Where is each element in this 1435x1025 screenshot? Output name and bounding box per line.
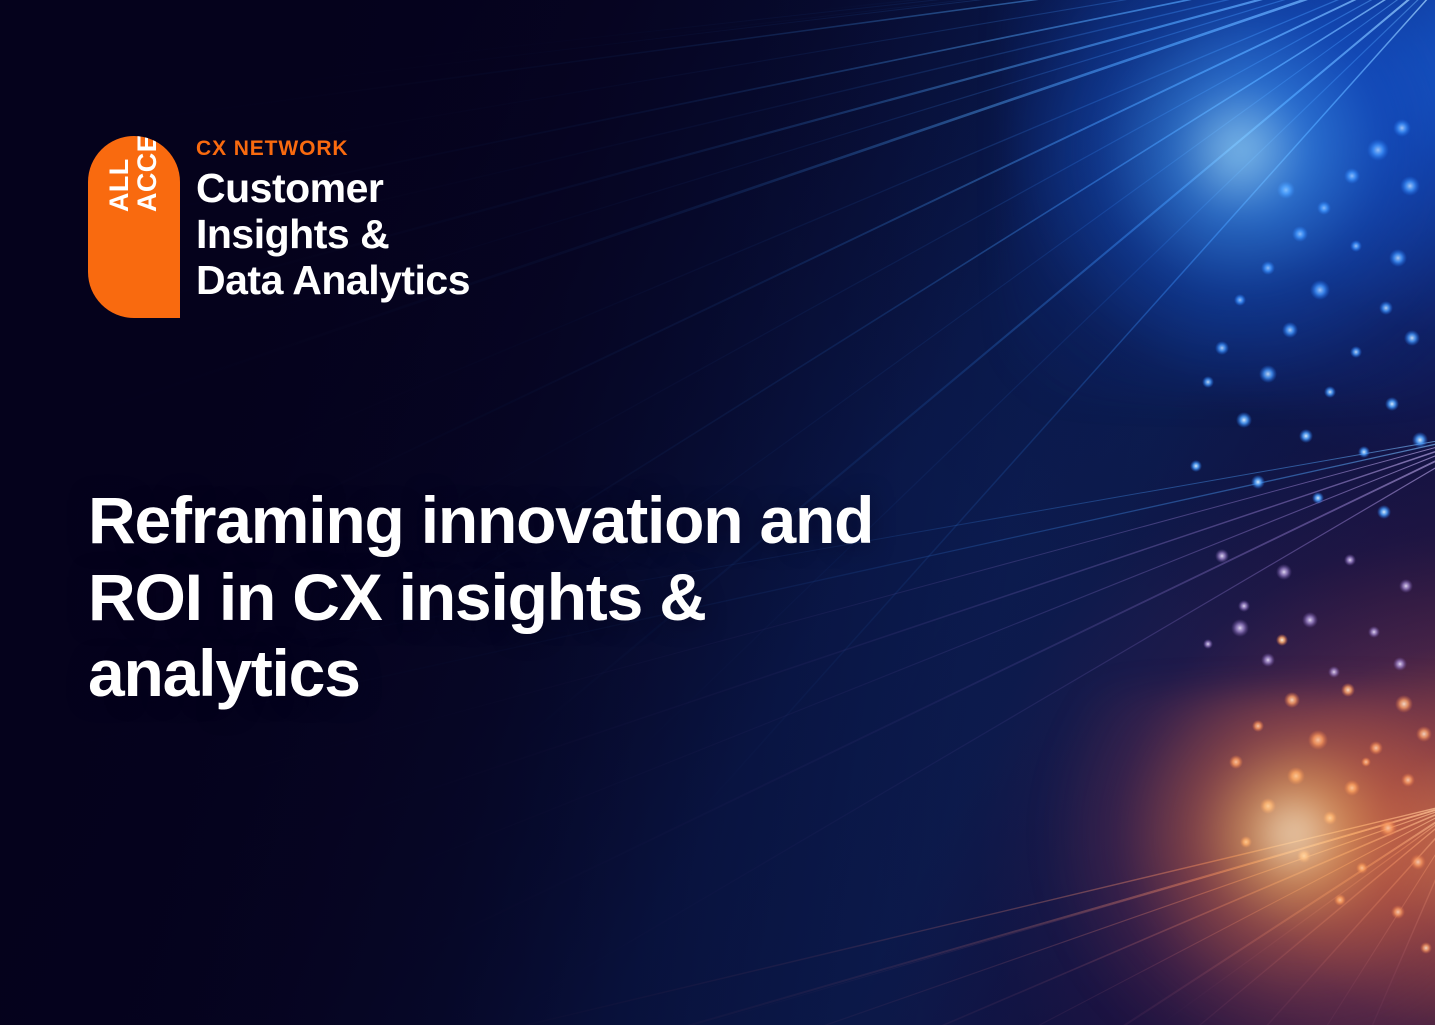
headline-line-3: analytics bbox=[88, 635, 928, 712]
all-access-badge-line-2: ACCESS bbox=[134, 136, 162, 212]
headline-line-1: Reframing innovation and bbox=[88, 482, 928, 559]
all-access-badge-line-1: ALL bbox=[106, 158, 134, 212]
all-access-badge: ALL ACCESS bbox=[88, 136, 180, 318]
brand-title-line-2: Insights & bbox=[196, 212, 470, 258]
headline-line-2: ROI in CX insights & bbox=[88, 559, 928, 636]
brand-logo-lockup: ALL ACCESS CX NETWORK Customer Insights … bbox=[88, 136, 470, 318]
brand-title-line-3: Data Analytics bbox=[196, 258, 470, 304]
brand-wordmark: CX NETWORK Customer Insights & Data Anal… bbox=[196, 136, 470, 304]
title-slide: ALL ACCESS CX NETWORK Customer Insights … bbox=[0, 0, 1435, 1025]
brand-title-line-1: Customer bbox=[196, 166, 470, 212]
all-access-badge-text: ALL ACCESS bbox=[88, 136, 180, 228]
brand-title: Customer Insights & Data Analytics bbox=[196, 166, 470, 304]
brand-eyebrow-cx-network: CX NETWORK bbox=[196, 138, 470, 159]
page-title: Reframing innovation and ROI in CX insig… bbox=[88, 482, 928, 712]
